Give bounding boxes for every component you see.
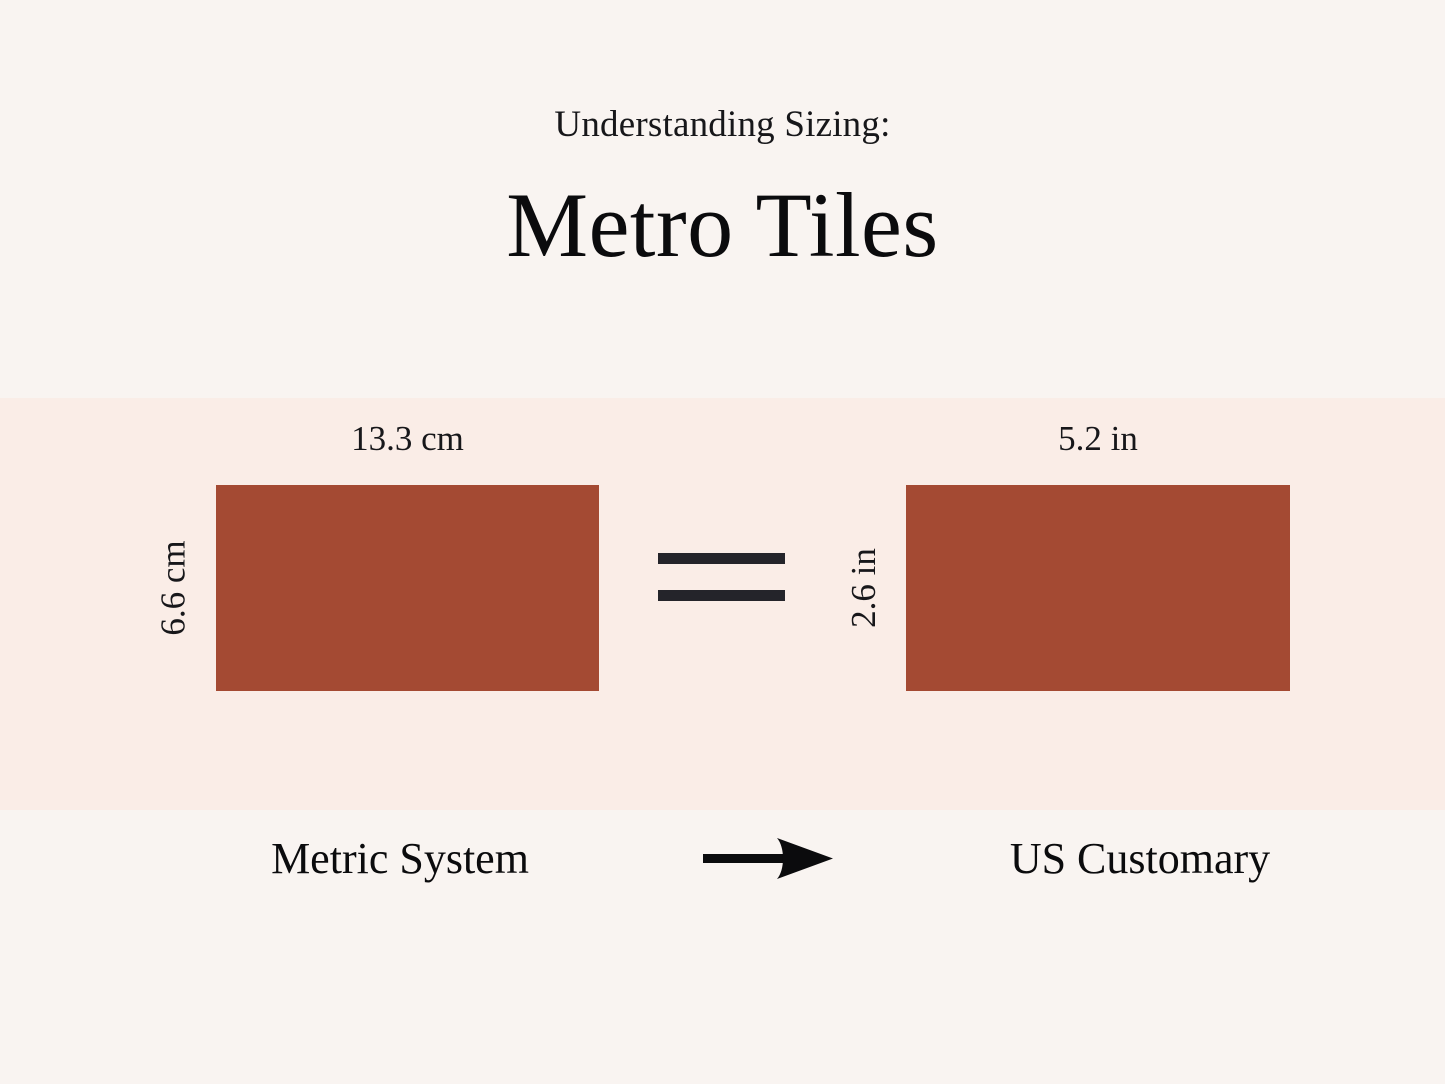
us-width-label: 5.2 in: [906, 416, 1290, 462]
metric-height-label-text: 6.6 cm: [154, 540, 194, 635]
us-tile-swatch: [906, 485, 1290, 691]
eyebrow-text: Understanding Sizing:: [0, 104, 1445, 147]
us-height-label-text: 2.6 in: [844, 548, 884, 628]
page-title: Metro Tiles: [0, 176, 1445, 275]
metric-tile-swatch: [216, 485, 599, 691]
metric-height-label: 6.6 cm: [151, 485, 197, 691]
metric-system-label: Metric System: [170, 828, 630, 890]
equals-bar-top: [658, 553, 785, 564]
right-arrow-icon: [703, 836, 835, 882]
comparison-band: 13.3 cm 6.6 cm 2.6 in 5.2 in: [0, 398, 1445, 810]
us-customary-label: US Customary: [880, 828, 1400, 890]
infographic-canvas: Understanding Sizing: Metro Tiles 13.3 c…: [0, 0, 1445, 1084]
equals-bar-bottom: [658, 590, 785, 601]
us-height-label: 2.6 in: [841, 485, 887, 691]
metric-width-label: 13.3 cm: [216, 416, 599, 462]
equals-sign-icon: [658, 548, 785, 633]
